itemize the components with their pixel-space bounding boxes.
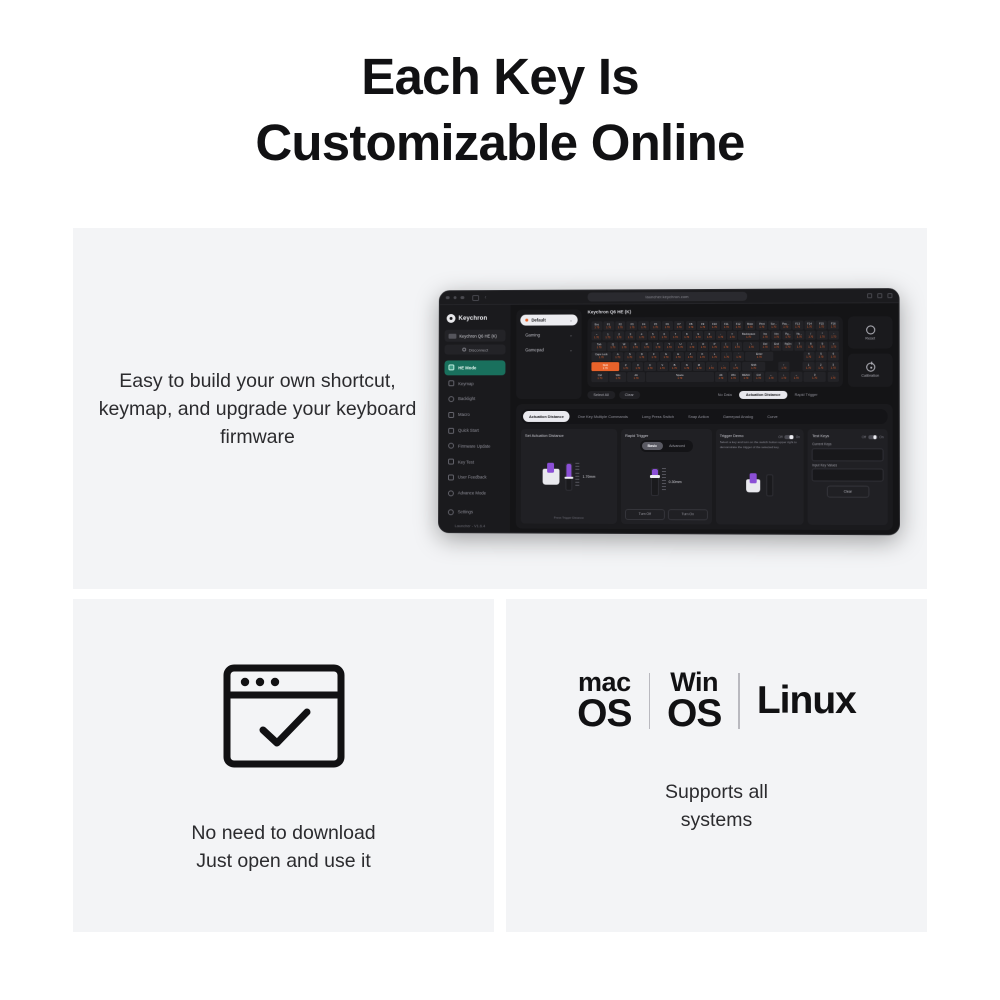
key-value: 1.70 [808,345,813,348]
key-value: 1.70 [635,366,640,369]
browser-check-icon [221,662,347,775]
key-[interactable]: '1.70 [733,351,744,360]
key-value: 1.70 [701,346,706,349]
heading-line-1: Each Key Is [361,48,639,105]
sidebar-item-label: Key Test [458,459,474,464]
key-m[interactable]: M1.70 [693,362,704,371]
key-1[interactable]: 11.70 [803,361,814,370]
key-mute[interactable]: Mute1.70 [745,320,756,329]
key-5[interactable]: 51.70 [648,331,658,340]
titlebar-actions [867,293,892,298]
key-f11[interactable]: F111.70 [721,320,732,329]
key-6[interactable]: 61.70 [659,331,669,340]
key-[interactable]: ↓1.70 [778,372,789,381]
key-[interactable]: *1.70 [817,330,827,339]
launcher-version: Launcher - V1.6.4 [444,523,505,528]
panel-title: Test Keys [812,433,829,438]
tab-gamepad-analog[interactable]: Gamepad Analog [717,411,759,422]
key-value: 1.70 [627,356,632,359]
key-alt[interactable]: Alt1.70 [715,372,726,381]
key-pgdn[interactable]: PgDn1.70 [783,341,793,350]
profile-gamepad[interactable]: Gamepad⌄ [520,344,577,355]
key-print[interactable]: Print1.70 [757,320,768,329]
key-e[interactable]: E1.70 [630,341,640,350]
keyboard-footer: Select All Clear No Data Actuation Dista… [587,390,892,399]
key-value: 1.70 [831,356,836,359]
key-y[interactable]: Y1.70 [664,341,674,350]
key-9[interactable]: 91.70 [817,341,827,350]
tab-curve[interactable]: Curve [761,411,784,422]
sidebar-item-backlight[interactable]: Backlight [444,391,505,406]
keyboard-map[interactable]: Esc1.70F11.70F21.70F31.70F41.70F51.70F61… [587,316,842,386]
brand: Keychron [445,311,506,329]
key-value: 1.70 [756,376,761,379]
os-support-caption: Supports all systems [665,778,768,834]
panel-actuation-distance: Set Actuation Distance [521,429,617,524]
key-i[interactable]: I1.70 [687,341,697,350]
panel-title: Set Actuation Distance [525,433,613,438]
key-g[interactable]: G1.70 [661,351,672,360]
key-value: 1.70 [684,335,689,338]
url-bar[interactable]: launcher.keychron.com [588,292,748,301]
nav-icon [448,490,454,496]
key-value: 1.70 [748,325,753,328]
sidebar-footer: Settings Launcher - V1.6.4 [444,504,505,528]
key-a[interactable]: A1.70 [612,352,623,361]
key-[interactable]: ;1.70 [721,351,732,360]
sidebar: Keychron Keychron Q6 HE (K) Disconnect H… [439,304,511,532]
key-value: 1.70 [769,376,774,379]
rapid-trigger-buttons: Turn OffTurn On [625,508,708,520]
calibration-button[interactable]: Calibration [848,353,893,386]
key-end[interactable]: End1.70 [771,341,781,350]
key-3[interactable]: 31.70 [625,331,635,340]
key-value: 1.70 [731,376,736,379]
key-value: 1.70 [806,366,811,369]
key-0[interactable]: 01.70 [704,331,714,340]
keyboard-row: Esc1.70F11.70F21.70F31.70F41.70F51.70F61… [587,316,892,387]
key-value: 1.70 [700,325,705,328]
gear-icon [448,508,454,514]
key-7[interactable]: 71.70 [794,341,804,350]
key-ctrl[interactable]: Ctrl1.70 [591,372,608,381]
tab-actuation-distance[interactable]: Actuation Distance [523,411,570,422]
actuation-distance-pill[interactable]: Actuation Distance [739,390,788,399]
key-value: 1.70 [735,346,740,349]
disconnect-button[interactable]: Disconnect [445,344,506,354]
keyboard-row: Shift1.70Z1.70X1.70C1.70V1.70B1.70N1.70M… [591,361,838,371]
side-button-label: Reset [865,336,875,340]
key-value: 1.70 [763,335,768,338]
key-value: 1.70 [831,345,836,348]
sidebar-item-label: Backlight [458,396,475,401]
key-value: 1.70 [677,325,682,328]
test-keys-toggle[interactable]: Off On [862,434,884,439]
heading-line-2: Customizable Online [255,114,744,171]
chevron-down-icon[interactable]: ⌄ [569,347,572,352]
slider-track[interactable] [651,467,659,495]
key-[interactable]: /1.70 [806,330,816,339]
key-[interactable]: +1.70 [828,341,838,350]
sidebar-item-label: Advance Mode [458,490,486,495]
key-value: 1.70 [688,356,693,359]
key-[interactable]: -1.70 [828,330,838,339]
profile-default[interactable]: Default⌄ [520,314,577,325]
back-chevron-icon[interactable]: ‹ [484,294,486,300]
key-9[interactable]: 91.70 [693,331,703,340]
key-alt[interactable]: Alt1.70 [628,372,645,381]
nav-icon [448,443,454,449]
key-[interactable]: ,1.70 [706,362,717,371]
key-f2[interactable]: F21.70 [615,321,626,330]
key-f13[interactable]: F131.70 [792,320,803,329]
key-value: 1.70 [617,336,622,339]
slider-track[interactable] [565,463,572,491]
key-k[interactable]: K1.70 [697,351,708,360]
key-backspace[interactable]: Backspace1.70 [738,331,759,340]
key-value: 1.70 [757,356,762,359]
input-key-values-field[interactable] [812,468,884,481]
slider-fill [652,468,657,475]
switch-stem [749,473,756,483]
key-esc[interactable]: Esc1.70 [592,321,603,330]
key-q[interactable]: Q1.70 [608,341,618,350]
key-8[interactable]: 81.70 [682,331,692,340]
trigger-demo-description: Select a key and turn on the switch butt… [720,440,800,449]
key-value: 1.70 [781,366,786,369]
key-c[interactable]: C1.70 [645,362,656,371]
demo-slider-track [766,474,774,496]
key-0[interactable]: 01.70 [803,372,826,381]
ruler-icon [662,467,666,495]
tabs-icon[interactable] [887,293,892,298]
key-value: 1.70 [678,346,683,349]
settings-panels: Set Actuation Distance [521,429,888,525]
key-f15[interactable]: F151.70 [816,320,827,329]
sidebar-item-label: Firmware Update [458,443,490,448]
sidebar-item-label: Quick Start [458,427,479,432]
toggle-switch[interactable] [868,434,877,439]
window-dot[interactable] [460,295,463,298]
key-f1[interactable]: F11.70 [603,321,614,330]
key-value: 1.70 [610,346,615,349]
toggle-off-label: Off [862,435,866,439]
chevron-down-icon[interactable]: ⌄ [569,332,572,337]
key-f[interactable]: F1.70 [648,351,659,360]
sidebar-item-he-mode[interactable]: HE Mode [444,360,505,375]
key-value: 1.70 [763,345,768,348]
key-hm[interactable]: Hm1.70 [771,331,781,340]
url-text: launcher.keychron.com [646,294,689,299]
key-capslock[interactable]: Caps Lock1.70 [591,352,611,361]
sidebar-item-user-feedback[interactable]: User Feedback [444,469,505,484]
toggle-on-label: On [879,435,883,439]
key-spacer [774,351,802,360]
key-value: 1.70 [820,335,825,338]
key-s[interactable]: S1.70 [624,351,635,360]
window-dot[interactable] [453,295,456,298]
key-value: 1.70 [594,325,599,328]
key-7[interactable]: 71.70 [670,331,680,340]
sidebar-item-advance-mode[interactable]: Advance Mode [444,485,505,500]
key-4[interactable]: 41.70 [803,351,814,360]
panel-header: Test Keys Off On [812,433,883,440]
key-value: 1.70 [831,335,836,338]
actuation-slider[interactable]: 1.70mm [565,463,595,491]
key-[interactable]: .1.70 [827,372,839,381]
key-[interactable]: \1.70 [743,341,758,350]
add-tab-icon[interactable] [877,293,882,298]
key-win[interactable]: Win1.70 [728,372,739,381]
key-3[interactable]: 31.70 [828,361,839,370]
panel-title: Trigger Demo [720,433,744,438]
keyboard-row: Esc1.70F11.70F21.70F31.70F41.70F51.70F61… [592,320,839,330]
key-f5[interactable]: F51.70 [650,321,661,330]
input-key-values-label: Input Key Values [812,463,883,467]
profile-gaming[interactable]: Gaming⌄ [520,329,577,340]
key-value: 1.70 [662,335,667,338]
divider [738,673,740,729]
key-f9[interactable]: F91.70 [697,320,708,329]
window-dot[interactable] [446,295,449,298]
key-value: 1.70 [664,356,669,359]
key-l[interactable]: L1.70 [709,351,720,360]
key-nu[interactable]: Nu...1.70 [794,330,804,339]
key-value: 1.70 [660,366,665,369]
key-f4[interactable]: F41.70 [638,321,649,330]
sidebar-item-quick-start[interactable]: Quick Start [444,423,505,438]
sidebar-item-key-test[interactable]: Key Test [444,454,505,469]
os-logos: mac OS Win OS Linux [577,669,856,734]
key-[interactable]: /1.70 [730,362,741,371]
key-value: 1.70 [712,346,717,349]
keyboard-row: Caps Lock1.70A1.70S1.70D1.70F1.70G1.70H1… [591,351,838,361]
key-x[interactable]: X1.70 [632,362,643,371]
rapid-trigger-label[interactable]: Rapid Trigger [792,390,821,399]
key-p[interactable]: P1.70 [709,341,719,350]
sidebar-item-label: User Feedback [458,474,487,479]
key-[interactable]: =1.70 [727,331,737,340]
sidebar-nav: HE ModeKeymapBacklightMacroQuick StartFi… [444,360,505,500]
calibration-icon [866,362,875,371]
share-icon[interactable] [867,293,872,298]
key-value: 1.70 [819,356,824,359]
key-o[interactable]: O1.70 [698,341,708,350]
key-value: 1.70 [831,325,836,328]
toggle-switch[interactable] [785,434,794,439]
tab-snap-action[interactable]: Snap Action [682,411,715,422]
key-2[interactable]: 21.70 [815,361,826,370]
app-screenshot: ‹ launcher.keychron.com [436,279,906,539]
key-value: 1.70 [622,346,627,349]
key-b[interactable]: B1.70 [669,362,680,371]
toggle-on-label: On [796,435,800,439]
key-value: 1.70 [684,366,689,369]
key-value: 1.70 [633,346,638,349]
key-value: 1.70 [807,325,812,328]
nav-icon [448,411,454,417]
key-shift[interactable]: Shift1.70 [742,361,764,370]
turn-on-button[interactable]: Turn On [668,508,708,519]
nav-icon [448,458,454,464]
key-4[interactable]: 41.70 [636,331,646,340]
chevron-down-icon[interactable]: ⌄ [569,317,572,322]
side-button-label: Calibration [861,373,879,377]
key-value: 1.70 [712,356,717,359]
tab-one-key-multiple-commands[interactable]: One Key Multiple Commands [572,411,634,422]
key-value: 1.70 [628,336,633,339]
profile-label: Default [531,317,545,322]
key-win[interactable]: Win1.70 [609,372,626,381]
key-[interactable]: [1.70 [721,341,731,350]
rapid-trigger-basic[interactable]: Basic [642,441,664,449]
sidebar-item-settings[interactable]: Settings [444,504,505,519]
key-value: 1.70 [667,346,672,349]
sidebar-item-firmware-update[interactable]: Firmware Update [444,438,505,453]
sidebar-toggle-icon[interactable] [472,294,479,300]
key-5[interactable]: 51.70 [815,351,826,360]
keyboard-row: Tab1.70Q1.70W1.70E1.70R1.70T1.70Y1.70U1.… [591,341,838,351]
key-value: 1.70 [783,325,788,328]
key-value: 1.70 [733,366,738,369]
key-pg[interactable]: Pg...1.70 [783,330,793,339]
key-f7[interactable]: F71.70 [674,321,685,330]
key-value: 1.70 [709,366,714,369]
key-[interactable]: ~1.70 [591,331,601,340]
linux-logo: Linux [757,679,856,723]
key-2[interactable]: 21.70 [614,331,624,340]
key-1[interactable]: 11.70 [603,331,613,340]
caption-line-1: Supports all [665,781,768,803]
key-value: 1.70 [806,356,811,359]
key-pau[interactable]: Pau...1.70 [780,320,791,329]
key-8[interactable]: 81.70 [806,341,816,350]
key-value: 1.70 [736,325,741,328]
sidebar-item-macro[interactable]: Macro [444,407,505,422]
turn-off-button[interactable]: Turn Off [625,508,665,519]
key-f8[interactable]: F81.70 [686,321,697,330]
key-f10[interactable]: F101.70 [709,320,720,329]
key-u[interactable]: U1.70 [675,341,685,350]
key-value: 1.70 [759,325,764,328]
key-value: 1.70 [751,366,756,369]
key-j[interactable]: J1.70 [685,351,696,360]
current-keys-field[interactable] [812,448,883,461]
key-d[interactable]: D1.70 [636,351,647,360]
key-f6[interactable]: F61.70 [662,321,673,330]
key-[interactable]: ←1.70 [765,372,776,381]
keyboard-row: Ctrl1.70Win1.70Alt1.70Space1.70Alt1.70Wi… [591,372,838,382]
key-r[interactable]: R1.70 [642,341,652,350]
key-value: 1.70 [688,325,693,328]
key-value: 1.70 [736,356,741,359]
device-chip[interactable]: Keychron Q6 HE (K) [445,329,506,341]
key-tab[interactable]: Tab1.70 [591,341,606,350]
key-n[interactable]: N1.70 [681,362,692,371]
key-value: 1.70 [774,335,779,338]
main-panel: Default⌄Gaming⌄Gamepad⌄ Keychron Q6 HE (… [510,303,899,534]
profile-label: Gamepad [525,347,544,352]
keyboard-icon [449,333,457,338]
key-value: 1.70 [808,335,813,338]
key-scr[interactable]: Scr...1.70 [768,320,779,329]
key-value: 1.70 [721,366,726,369]
tab-long-press-switch[interactable]: Long Press Switch [636,411,680,422]
key-value: 1.70 [677,376,682,379]
trigger-demo-toggle[interactable]: Off On [778,434,800,439]
key-[interactable]: →1.70 [791,372,803,381]
panel-header: Trigger Demo Off On [720,433,800,440]
key-value: 1.70 [700,356,705,359]
select-all-button[interactable]: Select All [587,390,614,399]
key-t[interactable]: T1.70 [653,341,663,350]
clear-button[interactable]: Clear [619,390,640,399]
key-value: 1.70 [797,335,802,338]
key-value: 1.70 [623,366,628,369]
key-w[interactable]: W1.70 [619,341,629,350]
key-[interactable]: .1.70 [718,362,729,371]
key-ins[interactable]: Ins1.70 [760,331,770,340]
key-v[interactable]: V1.70 [657,362,668,371]
key-z[interactable]: Z1.70 [620,362,631,371]
disconnect-label: Disconnect [469,347,488,352]
key-h[interactable]: H1.70 [673,351,684,360]
profile-label: Gaming [525,332,540,337]
key-value: 1.70 [785,345,790,348]
slider-knob[interactable] [564,476,573,478]
settings-label: Settings [458,509,473,514]
key-enter[interactable]: Enter1.70 [745,351,773,360]
key-value: 1.70 [689,346,694,349]
key-[interactable]: ↑1.70 [778,361,789,370]
rapid-trigger-slider[interactable]: 0.30mm [651,467,681,495]
sidebar-item-label: HE Mode [458,365,476,370]
key-f3[interactable]: F31.70 [627,321,638,330]
actuation-value: 1.70mm [582,475,595,479]
reset-icon [866,325,875,334]
launcher-window: ‹ launcher.keychron.com [438,288,900,535]
key-6[interactable]: 61.70 [828,351,839,360]
winos-logo: Win OS [667,669,721,734]
switch-illustration: 1.70mm [525,440,613,514]
key-f14[interactable]: F141.70 [804,320,815,329]
key-menu[interactable]: MENU1.70 [740,372,751,381]
profile-list: Default⌄Gaming⌄Gamepad⌄ [516,309,581,399]
key-[interactable]: -1.70 [716,331,726,340]
key-[interactable]: ]1.70 [732,341,742,350]
test-keys-clear-button[interactable]: Clear [826,485,869,496]
reset-button[interactable]: Reset [848,316,893,349]
key-value: 1.70 [730,335,735,338]
key-value: 1.70 [653,325,658,328]
page-heading: Each Key Is Customizable Online [0,0,1000,176]
toggle-off-label: Off [778,435,782,439]
key-f16[interactable]: F161.70 [828,320,839,329]
key-del[interactable]: Del1.70 [760,341,770,350]
sidebar-item-keymap[interactable]: Keymap [444,376,505,391]
key-value: 1.70 [615,356,620,359]
key-shift[interactable]: Shift1.70 [591,362,619,371]
sidebar-item-label: Keymap [458,380,474,385]
key-space[interactable]: Space1.70 [646,372,714,381]
key-ctrl[interactable]: Ctrl1.70 [753,372,764,381]
slider-knob[interactable] [650,475,659,477]
rapid-trigger-advanced[interactable]: Advanced [663,441,691,449]
key-value: 1.70 [594,336,599,339]
key-value: 1.70 [656,346,661,349]
key-f12[interactable]: F121.70 [733,320,744,329]
rapid-trigger-mode-toggle[interactable]: BasicAdvanced [640,440,693,451]
